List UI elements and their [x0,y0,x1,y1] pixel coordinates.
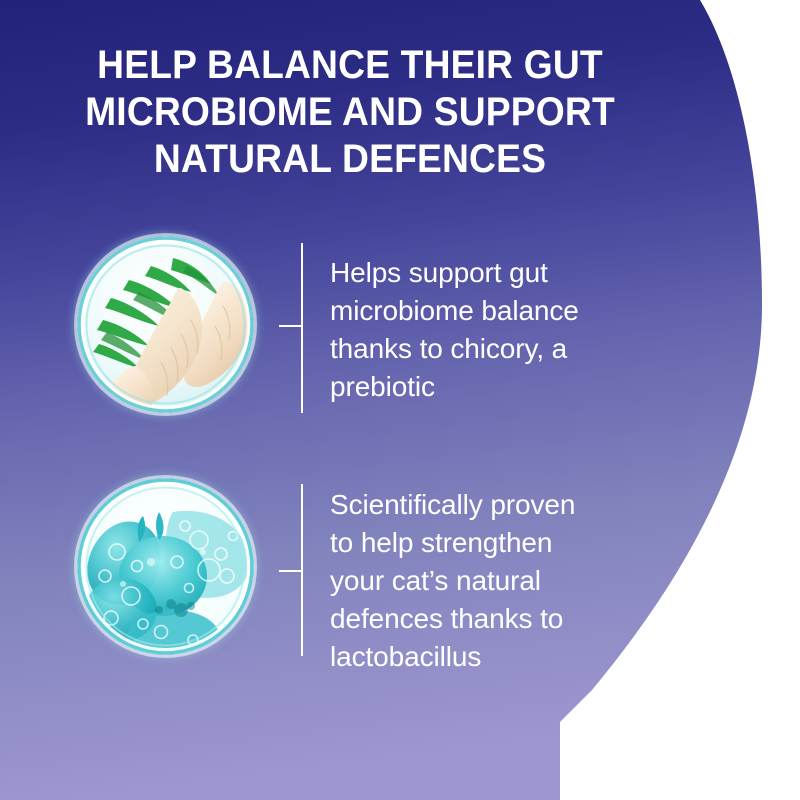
connector-tick [279,325,301,327]
feature-row-prebiotic: Helps support gut microbiome balance tha… [0,236,800,416]
feature-text-prebiotic: Helps support gut microbiome balance tha… [330,254,650,406]
feature-row-lactobacillus: Scientifically proven to help strengthen… [0,478,800,658]
lactobacillus-bubbles-dish-icon [77,478,254,655]
feature-text-lactobacillus: Scientifically proven to help strengthen… [330,486,650,676]
page-title: HELP BALANCE THEIR GUT MICROBIOME AND SU… [25,42,676,183]
connector-rule [301,243,303,413]
connector-tick [279,570,301,572]
infographic-canvas: HELP BALANCE THEIR GUT MICROBIOME AND SU… [0,0,800,800]
chicory-root-dish-icon [77,236,254,413]
connector-rule [301,484,303,656]
